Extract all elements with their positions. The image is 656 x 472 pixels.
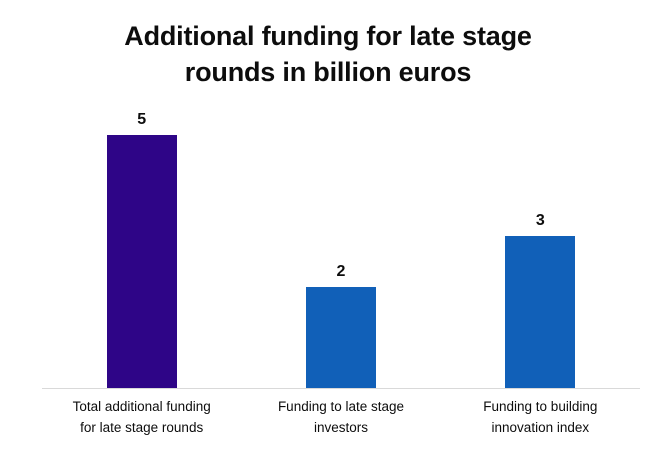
bar-value-label-2: 3 xyxy=(536,212,545,230)
category-label-2-line2: innovation index xyxy=(445,417,636,438)
category-label-0-line2: for late stage rounds xyxy=(46,417,237,438)
category-label-1: Funding to late stage investors xyxy=(241,396,440,438)
category-label-1-line2: investors xyxy=(245,417,436,438)
bar-funding-to-late-stage-investors[interactable] xyxy=(306,287,376,388)
bar-value-label-1: 2 xyxy=(337,263,346,281)
category-axis-line xyxy=(42,388,640,389)
bar-total-additional-funding[interactable] xyxy=(107,135,177,388)
category-label-1-line1: Funding to late stage xyxy=(245,396,436,417)
plot-area: 5 2 3 Total additional funding for late … xyxy=(0,0,656,472)
category-label-2: Funding to building innovation index xyxy=(441,396,640,438)
bar-slot-1: 2 xyxy=(241,100,440,388)
category-label-0: Total additional funding for late stage … xyxy=(42,396,241,438)
category-label-2-line1: Funding to building xyxy=(445,396,636,417)
bar-value-label-0: 5 xyxy=(137,111,146,129)
bar-slot-0: 5 xyxy=(42,100,241,388)
bars-layer: 5 2 3 xyxy=(42,100,640,388)
bar-funding-to-building-innovation-index[interactable] xyxy=(505,236,575,388)
category-labels: Total additional funding for late stage … xyxy=(42,396,640,456)
bar-slot-2: 3 xyxy=(441,100,640,388)
category-label-0-line1: Total additional funding xyxy=(46,396,237,417)
bar-chart: Additional funding for late stage rounds… xyxy=(0,0,656,472)
